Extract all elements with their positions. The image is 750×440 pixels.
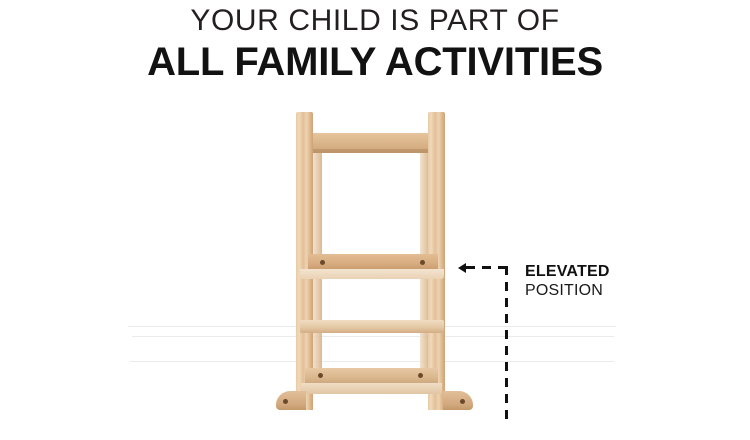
screw-icon [283, 399, 288, 404]
screw-icon [420, 260, 425, 265]
tower-lower-board [301, 383, 442, 394]
tower-lower-rail [305, 368, 438, 384]
promo-banner: YOUR CHILD IS PART OF ALL FAMILY ACTIVIT… [0, 0, 750, 440]
tower-foot-left [276, 391, 306, 410]
callout-label-bold: ELEVATED [525, 262, 725, 281]
screw-icon [418, 373, 423, 378]
callout-dashed-line-horizontal [466, 266, 508, 269]
screw-icon [320, 260, 325, 265]
screw-icon [318, 373, 323, 378]
callout-dashed-line-vertical [505, 266, 508, 426]
tower-foot-right [443, 391, 473, 410]
callout-label-regular: POSITION [525, 281, 725, 300]
screw-icon [460, 399, 465, 404]
tower-middle-shelf [300, 320, 444, 333]
tower-top-rail-shadow [296, 149, 445, 153]
callout-arrow-icon [458, 263, 466, 273]
learning-tower-image [0, 0, 750, 440]
callout-label-group: ELEVATED POSITION [525, 262, 725, 300]
tower-elevated-platform-top [300, 269, 444, 279]
